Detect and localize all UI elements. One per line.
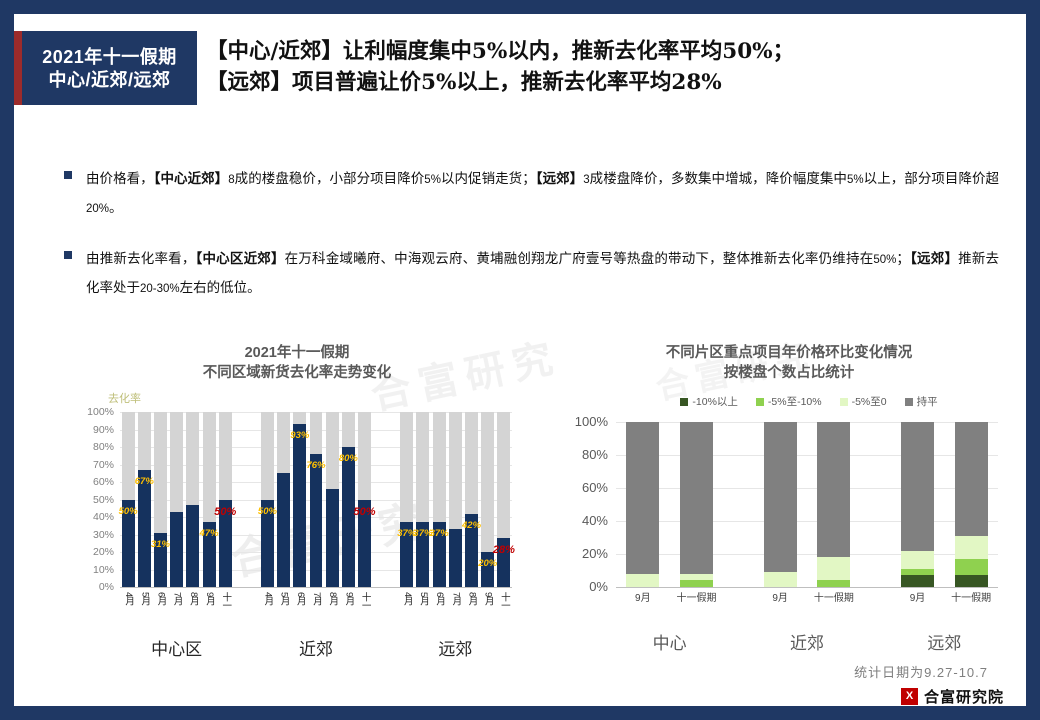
bar-column[interactable] [310, 412, 323, 587]
x-axis-tick: 7月 [448, 592, 462, 605]
bar-data-label: 50% [354, 506, 376, 518]
chart-plot-area: 0%10%20%30%40%50%60%70%80%90%100%50%4月67… [120, 412, 512, 587]
bar-data-label: 50% [258, 506, 277, 517]
y-axis-tick: 50% [70, 495, 114, 506]
chart-plot-area: 0%20%40%60%80%100%9月十一假期中心9月十一假期近郊9月十一假期… [616, 422, 998, 587]
x-axis-tick: 9月 [759, 593, 802, 605]
bar-column[interactable] [400, 412, 413, 587]
x-axis-tick: 十一 [218, 592, 232, 609]
bar-column[interactable] [170, 412, 183, 587]
bar-value-segment [449, 529, 462, 587]
bullet-run: 。 [109, 200, 123, 215]
bar-column[interactable] [186, 412, 199, 587]
x-axis-group-label: 近郊 [790, 629, 824, 654]
bar-data-label: 37% [430, 528, 449, 539]
y-axis-label: 去化率 [108, 390, 141, 406]
chart-price-change-distribution: 不同片区重点项目年价格环比变化情况 按楼盘个数占比统计 -10%以上-5%至-1… [554, 344, 1024, 654]
badge-line-2: 中心/近郊/远郊 [48, 71, 170, 89]
bar-value-segment [277, 473, 290, 587]
y-axis-tick: 70% [70, 460, 114, 471]
legend-label: 持平 [917, 394, 938, 409]
bar-segment [817, 557, 850, 580]
legend-swatch [680, 398, 688, 406]
y-axis-tick: 30% [70, 530, 114, 541]
badge-line-1: 2021年十一假期 [42, 48, 177, 66]
x-axis-tick: 9月 [341, 592, 355, 605]
legend-swatch [905, 398, 913, 406]
bar-column[interactable] [138, 412, 151, 587]
bullet-run: 由推新去化率看， [86, 251, 196, 266]
x-axis-tick: 5月 [416, 592, 430, 605]
chart-title: 不同片区重点项目年价格环比变化情况 按楼盘个数占比统计 [554, 344, 1024, 383]
y-axis-tick: 60% [70, 477, 114, 488]
bullet-run: 5% [424, 174, 441, 186]
bullet-run: 【远郊】 [910, 251, 958, 266]
bullet-run: 左右的低位。 [180, 280, 261, 295]
x-axis-group-label: 中心区 [151, 635, 202, 660]
x-axis-tick: 5月 [277, 592, 291, 605]
chart-title-line-1: 不同片区重点项目年价格环比变化情况 [554, 344, 1024, 364]
chart-title-line-2: 按楼盘个数占比统计 [554, 364, 1024, 384]
stacked-bar-column[interactable] [955, 422, 988, 587]
bar-data-label: 42% [462, 520, 481, 531]
bullet-run: 5% [847, 174, 864, 186]
bar-column[interactable] [261, 412, 274, 587]
bar-column[interactable] [122, 412, 135, 587]
bullet-run: 成的楼盘稳价，小部分项目降价 [235, 171, 425, 186]
x-axis-tick: 十一假期 [675, 593, 718, 605]
bar-column[interactable] [465, 412, 478, 587]
x-axis-tick: 6月 [432, 592, 446, 605]
bar-segment [901, 569, 934, 576]
legend-label: -5%至0 [852, 394, 887, 409]
bar-column[interactable] [433, 412, 446, 587]
bullet-run: 以内促销走货； [441, 171, 536, 186]
bar-data-label: 76% [306, 460, 325, 471]
y-axis-tick: 0% [562, 580, 608, 593]
legend-swatch [756, 398, 764, 406]
stacked-bar-column[interactable] [680, 422, 713, 587]
x-axis-tick: 十一假期 [812, 593, 855, 605]
y-axis-tick: 100% [70, 407, 114, 418]
x-axis-tick: 7月 [309, 592, 323, 605]
bar-segment [901, 575, 934, 587]
bar-column[interactable] [358, 412, 371, 587]
bar-segment [626, 574, 659, 587]
bullet-run: 【远郊】 [536, 171, 583, 186]
bar-data-label: 50% [119, 506, 138, 517]
bar-segment [626, 422, 659, 574]
y-axis-tick: 20% [562, 547, 608, 560]
bullet-run: 20% [86, 203, 109, 215]
logo-text: 合富研究院 [924, 686, 1004, 707]
bar-segment [955, 422, 988, 536]
bar-value-segment [326, 489, 339, 587]
bar-column[interactable] [154, 412, 167, 587]
x-axis-tick: 8月 [325, 592, 339, 605]
bar-segment [901, 422, 934, 551]
bar-column[interactable] [449, 412, 462, 587]
x-axis-group-label: 中心 [653, 629, 687, 654]
x-axis-tick: 9月 [202, 592, 216, 605]
x-axis-tick: 十一假期 [950, 593, 993, 605]
y-axis-tick: 40% [562, 514, 608, 527]
company-logo: X 合富研究院 [901, 686, 1004, 707]
bar-value-segment [170, 512, 183, 587]
bar-column[interactable] [277, 412, 290, 587]
gridline [616, 521, 998, 522]
bullet-list: 由价格看，【中心近郊】8成的楼盘稳价，小部分项目降价5%以内促销走货；【远郊】3… [64, 164, 999, 324]
y-axis-tick: 0% [70, 582, 114, 593]
x-axis-tick: 6月 [293, 592, 307, 605]
gridline [616, 488, 998, 489]
x-axis-line [120, 587, 512, 588]
title-badge: 2021年十一假期 中心/近郊/远郊 [22, 31, 197, 105]
legend-label: -10%以上 [692, 394, 738, 409]
bar-value-segment [293, 424, 306, 587]
bar-column[interactable] [342, 412, 355, 587]
x-axis-line [616, 587, 998, 588]
y-axis-tick: 90% [70, 425, 114, 436]
bullet-square-icon [64, 251, 72, 259]
y-axis-tick: 80% [70, 442, 114, 453]
x-axis-group-label: 近郊 [299, 635, 333, 660]
chart-title-line-2: 不同区域新货去化率走势变化 [62, 364, 532, 384]
bullet-run: 20-30% [140, 283, 180, 295]
bar-segment [817, 422, 850, 557]
bar-value-segment [310, 454, 323, 587]
stacked-bar-column[interactable] [626, 422, 659, 587]
chart-title-line-1: 2021年十一假期 [62, 344, 532, 364]
headline-line-2: 【远郊】项目普遍让价5%以上，推新去化率平均28% [206, 67, 1006, 98]
legend-item[interactable]: -10%以上 [680, 394, 738, 409]
gridline [616, 554, 998, 555]
bar-data-label: 31% [151, 539, 170, 550]
gridline [616, 422, 998, 423]
bar-segment [817, 580, 850, 587]
x-axis-tick: 9月 [481, 592, 495, 605]
bullet-run: 成楼盘降价，多数集中增城，降价幅度集中 [590, 171, 847, 186]
bullet-run: 50% [873, 254, 896, 266]
x-axis-tick: 8月 [186, 592, 200, 605]
bar-data-label: 67% [135, 476, 154, 487]
x-axis-tick: 4月 [400, 592, 414, 605]
bar-segment [955, 575, 988, 587]
bullet-run: 在万科金域曦府、中海观云府、黄埔融创翔龙广府壹号等热盘的带动下，整体推新去化率仍… [285, 251, 874, 266]
x-axis-tick: 4月 [121, 592, 135, 605]
logo-mark-icon: X [901, 688, 918, 705]
statistics-date: 统计日期为9.27-10.7 [854, 662, 988, 681]
chart-legend: -10%以上-5%至-10%-5%至0持平 [614, 394, 1004, 409]
y-axis-tick: 100% [562, 415, 608, 428]
y-axis-tick: 10% [70, 565, 114, 576]
bullet-text: 由推新去化率看，【中心区近郊】在万科金域曦府、中海观云府、黄埔融创翔龙广府壹号等… [86, 244, 999, 302]
y-axis-tick: 20% [70, 547, 114, 558]
bullet-text: 由价格看，【中心近郊】8成的楼盘稳价，小部分项目降价5%以内促销走货；【远郊】3… [86, 164, 999, 222]
stacked-bar-column[interactable] [764, 422, 797, 587]
x-axis-tick: 5月 [137, 592, 151, 605]
bullet-square-icon [64, 171, 72, 179]
x-axis-tick: 8月 [465, 592, 479, 605]
bar-data-label: 80% [339, 453, 358, 464]
bar-data-label: 93% [290, 430, 309, 441]
bullet-run: 【中心近郊】 [154, 171, 229, 186]
bar-segment [680, 574, 713, 581]
y-axis-tick: 40% [70, 512, 114, 523]
bar-data-label: 20% [478, 558, 497, 569]
x-axis-tick: 9月 [621, 593, 664, 605]
bar-segment [955, 536, 988, 559]
stacked-bar-column[interactable] [817, 422, 850, 587]
bar-column[interactable] [219, 412, 232, 587]
bar-segment [764, 422, 797, 572]
stacked-bar-column[interactable] [901, 422, 934, 587]
bar-segment [680, 422, 713, 574]
y-axis-tick: 60% [562, 481, 608, 494]
x-axis-tick: 十一 [358, 592, 372, 609]
bar-value-segment [186, 505, 199, 587]
y-axis-tick: 80% [562, 448, 608, 461]
bar-column[interactable] [326, 412, 339, 587]
legend-item[interactable]: -5%至0 [840, 394, 887, 409]
bullet-run: 【中心区近郊】 [196, 251, 285, 266]
bar-segment [680, 580, 713, 587]
legend-item[interactable]: 持平 [905, 394, 938, 409]
bar-data-label: 28% [493, 544, 515, 556]
bullet-run: 由价格看， [86, 171, 154, 186]
bar-column[interactable] [203, 412, 216, 587]
headline-line-1: 【中心/近郊】让利幅度集中5%以内，推新去化率平均50%； [206, 36, 1006, 67]
gridline [616, 455, 998, 456]
bar-segment [901, 551, 934, 569]
slide-canvas: 2021年十一假期 中心/近郊/远郊 【中心/近郊】让利幅度集中5%以内，推新去… [14, 14, 1026, 706]
slide-header: 2021年十一假期 中心/近郊/远郊 【中心/近郊】让利幅度集中5%以内，推新去… [14, 14, 1026, 119]
bar-segment [764, 572, 797, 587]
x-axis-tick: 7月 [170, 592, 184, 605]
x-axis-group-label: 远郊 [438, 635, 472, 660]
bar-value-segment [138, 470, 151, 587]
chart-title: 2021年十一假期 不同区域新货去化率走势变化 [62, 344, 532, 383]
x-axis-group-label: 远郊 [927, 629, 961, 654]
list-item: 由价格看，【中心近郊】8成的楼盘稳价，小部分项目降价5%以内促销走货；【远郊】3… [64, 164, 999, 222]
bullet-run: ； [896, 251, 910, 266]
bar-data-label: 47% [200, 528, 219, 539]
bullet-run: 以上，部分项目降价超 [864, 171, 999, 186]
bar-column[interactable] [497, 412, 510, 587]
bar-data-label: 50% [214, 506, 236, 518]
x-axis-tick: 十一 [497, 592, 511, 609]
chart-absorption-rate: 2021年十一假期 不同区域新货去化率走势变化 去化率 0%10%20%30%4… [62, 344, 532, 654]
x-axis-tick: 9月 [896, 593, 939, 605]
x-axis-tick: 4月 [260, 592, 274, 605]
x-axis-tick: 6月 [153, 592, 167, 605]
bar-column[interactable] [416, 412, 429, 587]
legend-item[interactable]: -5%至-10% [756, 394, 822, 409]
page-title: 【中心/近郊】让利幅度集中5%以内，推新去化率平均50%； 【远郊】项目普遍让价… [206, 36, 1006, 98]
legend-swatch [840, 398, 848, 406]
bar-segment [955, 559, 988, 576]
legend-label: -5%至-10% [768, 394, 822, 409]
list-item: 由推新去化率看，【中心区近郊】在万科金域曦府、中海观云府、黄埔融创翔龙广府壹号等… [64, 244, 999, 302]
